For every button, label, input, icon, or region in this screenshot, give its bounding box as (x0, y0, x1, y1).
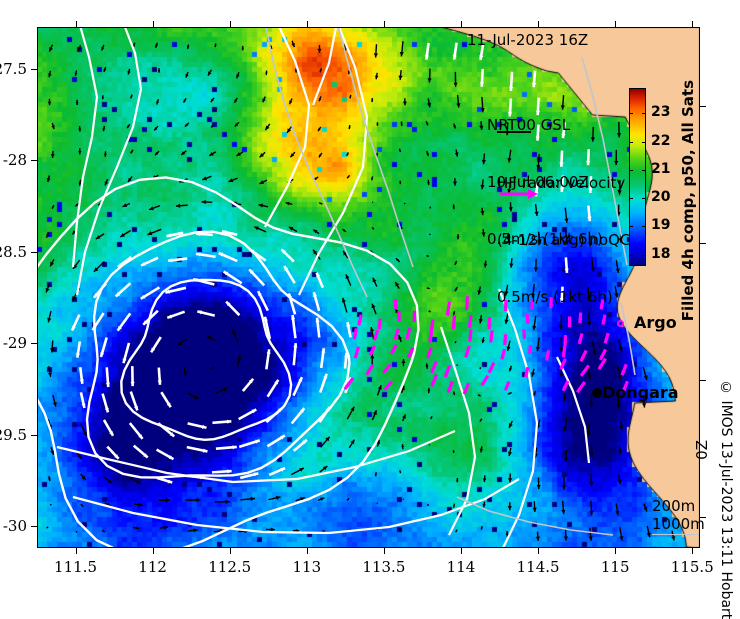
colorbar-tick-label: 20 (651, 189, 670, 205)
y-axis-tick (31, 526, 37, 527)
argo-legend-label: Argo (634, 313, 677, 332)
argo-marker-icon (617, 320, 624, 327)
hf-line-3: 0.5m/s (1kt 6h) (497, 288, 630, 307)
colorbar-tick (629, 170, 633, 171)
x-axis-label: 112.5 (195, 558, 265, 576)
hf-line-2: (4-12h avg) noQC (497, 231, 630, 250)
x-axis-tick (384, 548, 385, 554)
colorbar-tick (629, 142, 633, 143)
y-axis-tick-right (700, 106, 706, 107)
x-axis-label: 113.5 (349, 558, 419, 576)
y-axis-label: -28 (0, 151, 27, 169)
x-axis-tick (461, 548, 462, 554)
x-axis-tick-top (76, 21, 77, 27)
colorbar-tick (642, 142, 646, 143)
x-axis-tick (76, 548, 77, 554)
x-axis-label: 113 (272, 558, 342, 576)
x-axis-tick (153, 548, 154, 554)
x-axis-label: 115.5 (657, 558, 727, 576)
colorbar-tick (642, 113, 646, 114)
x-axis-tick-top (230, 21, 231, 27)
y-axis-tick (31, 252, 37, 253)
bathymetry-1000m-label: 1000m (652, 515, 705, 533)
x-axis-tick (692, 548, 693, 554)
x-axis-label: 114 (426, 558, 496, 576)
dongara-marker-icon (592, 388, 602, 398)
copyright-notice: © IMOS 13-Jul-2023 13:11 Hobart (718, 380, 734, 619)
y-axis-label: -27.5 (0, 60, 27, 78)
colorbar-tick-label: 23 (651, 104, 670, 120)
x-axis-tick (615, 548, 616, 554)
x-axis-tick-top (307, 21, 308, 27)
x-axis-tick (230, 548, 231, 554)
x-axis-label: 114.5 (503, 558, 573, 576)
colorbar-tick (642, 255, 646, 256)
x-axis-tick-top (538, 21, 539, 27)
hf-radar-legend-block: HF radar velocity (4-12h avg) noQC 0.5m/… (497, 136, 630, 326)
colorbar-tick-label: 21 (651, 161, 670, 177)
colorbar-tick-label: 22 (651, 133, 670, 149)
colorbar-tick (642, 198, 646, 199)
x-axis-label: 115 (580, 558, 650, 576)
colorbar-tick (629, 226, 633, 227)
x-axis-tick (538, 548, 539, 554)
colorbar-title: Filled 4h comp, p50, All Sats (679, 80, 697, 321)
colorbar-tick (629, 113, 633, 114)
colorbar-tick (629, 198, 633, 199)
y-axis-tick (31, 343, 37, 344)
clipped-time-label: 0Z (693, 440, 711, 460)
colorbar: 181920212223 (629, 88, 646, 266)
y-axis-label: -28.5 (0, 243, 27, 261)
y-axis-tick-right (700, 517, 706, 518)
x-axis-label: 112 (118, 558, 188, 576)
magenta-reference-arrow-icon (500, 188, 540, 200)
x-axis-tick-top (384, 21, 385, 27)
y-axis-tick-right (700, 380, 706, 381)
bathymetry-200m-label: 200m (652, 497, 695, 515)
y-axis-label: -29 (0, 334, 27, 352)
y-axis-label: -29.5 (0, 426, 27, 444)
x-axis-tick-top (461, 21, 462, 27)
colorbar-tick-label: 18 (651, 246, 670, 262)
black-reference-arrow-icon (497, 131, 531, 133)
colorbar-tick (629, 255, 633, 256)
x-axis-label: 111.5 (41, 558, 111, 576)
y-axis-label: -30 (0, 517, 27, 535)
colorbar-gradient (629, 88, 646, 266)
x-axis-tick-top (615, 21, 616, 27)
bathymetry-scale-line (652, 534, 698, 535)
dongara-city-label: Dongara (602, 383, 679, 402)
x-axis-tick (307, 548, 308, 554)
y-axis-tick (31, 160, 37, 161)
y-axis-tick-right (700, 243, 706, 244)
colorbar-tick (642, 226, 646, 227)
x-axis-tick-top (153, 21, 154, 27)
colorbar-tick (642, 170, 646, 171)
x-axis-tick-top (692, 21, 693, 27)
y-axis-tick (31, 69, 37, 70)
colorbar-tick-label: 19 (651, 217, 670, 233)
y-axis-tick (31, 435, 37, 436)
date-stamp: 11-Jul-2023 16Z (467, 31, 588, 49)
